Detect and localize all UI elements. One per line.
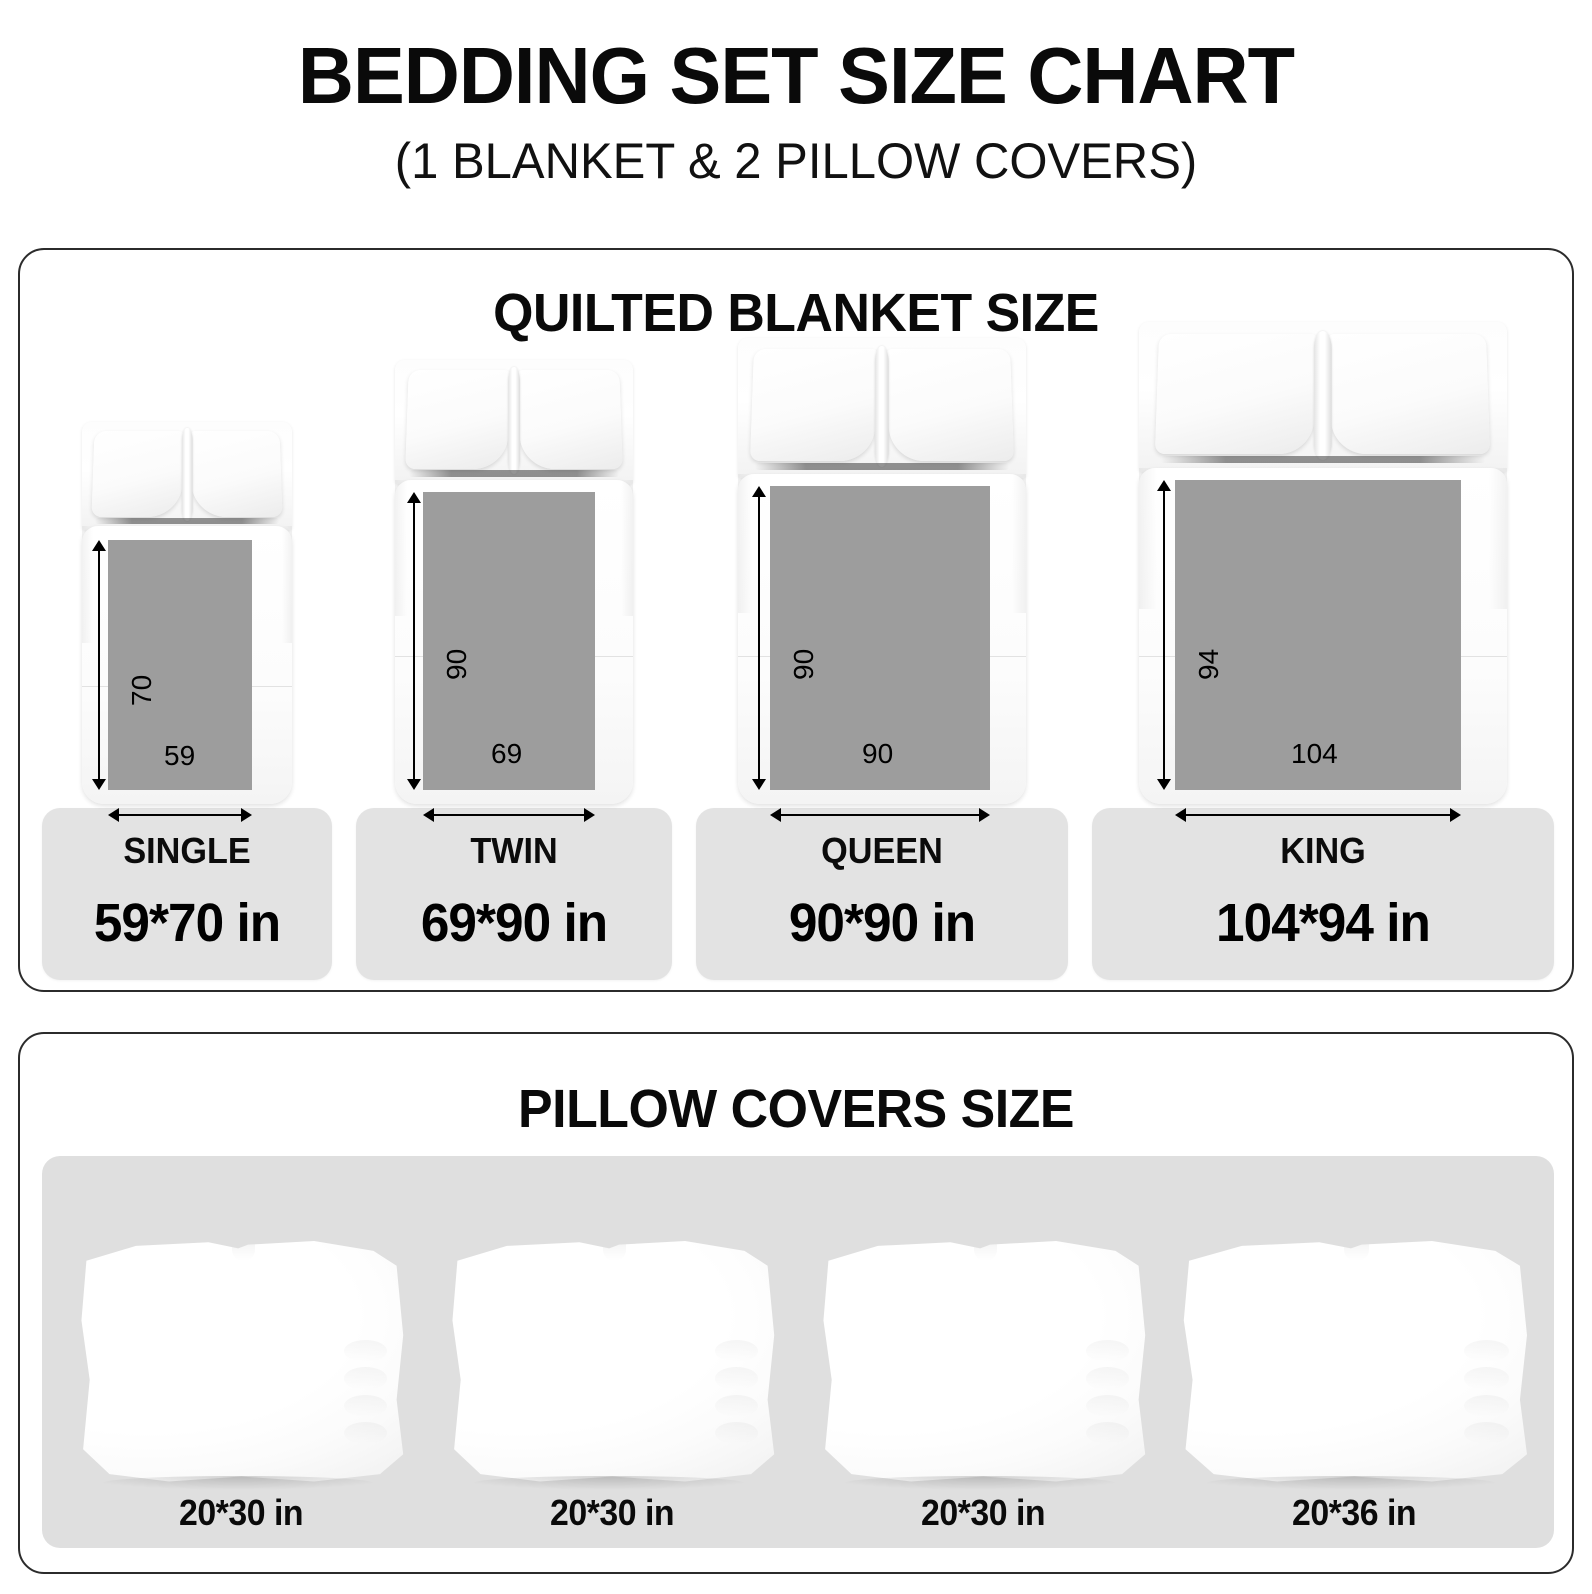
pillow-crease [344, 1340, 387, 1362]
pillow-column-2: 20*30 in [432, 1236, 794, 1534]
pillow-shadow [1207, 1476, 1496, 1490]
pillow-cover-icon [1179, 1236, 1531, 1484]
pillow-covers-section: PILLOW COVERS SIZE 20*30 in [18, 1032, 1574, 1574]
arrow-head-up [752, 486, 766, 497]
bed-side-right [1489, 468, 1507, 609]
pillow-fold-icon [875, 346, 889, 466]
pillow-notch [603, 1238, 626, 1260]
arrow-head-up [1157, 480, 1171, 491]
pillow-left-icon [91, 431, 184, 517]
bed-side-left [738, 474, 752, 613]
bed-side-left [395, 480, 407, 616]
dimension-label-height-queen: 90 [788, 649, 820, 680]
pillow-notch [232, 1238, 255, 1260]
pillow-left-icon [1155, 334, 1317, 454]
dimension-arrow-vertical-single [92, 540, 106, 790]
arrow-head-down [92, 779, 106, 790]
bed-column-queen: 90 90 QUEEN 90*90 in [696, 370, 1068, 980]
bed-side-right [282, 526, 293, 643]
dimension-line [758, 493, 760, 783]
pillow-shadow [95, 518, 280, 523]
pillow-crease [1464, 1367, 1510, 1389]
dimension-line [413, 499, 415, 783]
pillow-dim-1: 20*30 in [179, 1492, 303, 1534]
pillow-crease [1464, 1395, 1510, 1417]
pillow-shadow [755, 463, 1008, 470]
dimension-label-width-queen: 90 [862, 738, 893, 770]
dimension-line [1163, 487, 1165, 783]
bed-figure-twin: 90 69 [356, 360, 672, 804]
size-dims-queen: 90*90 in [715, 892, 1049, 954]
arrow-head-down [407, 779, 421, 790]
bed-pillows-twin [395, 360, 633, 484]
pillow-crease [1086, 1340, 1129, 1362]
arrow-head-down [1157, 779, 1171, 790]
pillow-crease [1086, 1422, 1129, 1444]
pillow-fold-icon [182, 428, 193, 521]
bed-side-right [1012, 474, 1026, 613]
bed-body-twin: 90 69 [395, 480, 633, 804]
pillow-body [77, 1236, 407, 1484]
pillow-body [819, 1236, 1149, 1484]
pillow-dim-4: 20*36 in [1292, 1492, 1416, 1534]
dimension-label-width-king: 104 [1291, 738, 1338, 770]
bed-figure-single: 70 59 [42, 422, 332, 804]
quilted-blanket-section: QUILTED BLANKET SIZE [18, 248, 1574, 992]
size-name-queen: QUEEN [715, 830, 1049, 872]
pillow-shadow [1161, 456, 1485, 464]
bed-illustrations-row: 70 59 SINGLE 59*70 in [42, 370, 1554, 980]
pillow-fold-icon [508, 367, 520, 474]
bed-figure-queen: 90 90 [696, 338, 1068, 804]
pillow-left-icon [750, 349, 878, 461]
bed-column-king: 94 104 KING 104*94 in [1092, 370, 1554, 980]
pillow-dim-3: 20*30 in [921, 1492, 1045, 1534]
pillow-dim-2: 20*30 in [550, 1492, 674, 1534]
pillow-crease [1086, 1367, 1129, 1389]
pillow-shadow [845, 1476, 1116, 1490]
bed-body-queen: 90 90 [738, 474, 1026, 804]
bed-figure-king: 94 104 [1092, 322, 1554, 804]
size-dims-twin: 69*90 in [373, 892, 654, 954]
pillow-crease [344, 1367, 387, 1389]
size-card-queen[interactable]: QUEEN 90*90 in [696, 808, 1068, 980]
pillow-crease [715, 1367, 758, 1389]
pillow-crease [1464, 1422, 1510, 1444]
pillow-column-3: 20*30 in [803, 1236, 1165, 1534]
pillow-right-icon [190, 431, 283, 517]
pillow-cover-icon [819, 1236, 1149, 1484]
size-dims-king: 104*94 in [1113, 892, 1533, 954]
dimension-label-width-single: 59 [164, 740, 195, 772]
bed-body-single: 70 59 [82, 526, 292, 804]
arrow-head-down [752, 779, 766, 790]
bed-pillows-single [82, 422, 292, 530]
pillow-shadow [474, 1476, 745, 1490]
pillow-right-icon [886, 349, 1014, 461]
pillow-illustrations-row: 20*30 in 20*30 in [42, 1156, 1554, 1548]
pillow-notch [974, 1238, 997, 1260]
dimension-arrow-vertical-twin [407, 492, 421, 790]
pillow-fold-icon [1314, 331, 1332, 460]
bed-column-twin: 90 69 TWIN 69*90 in [356, 370, 672, 980]
dimension-arrow-vertical-king [1157, 480, 1171, 790]
pillow-body [448, 1236, 778, 1484]
dimension-arrow-vertical-queen [752, 486, 766, 790]
size-name-king: KING [1113, 830, 1533, 872]
dimension-label-height-twin: 90 [441, 649, 473, 680]
size-dims-single: 59*70 in [59, 892, 316, 954]
bed-body-king: 94 104 [1139, 468, 1507, 804]
pillow-crease [715, 1422, 758, 1444]
pillow-crease [344, 1422, 387, 1444]
pillow-left-icon [405, 370, 511, 469]
arrow-head-up [92, 540, 106, 551]
page-subtitle: (1 BLANKET & 2 PILLOW COVERS) [16, 132, 1576, 190]
pillow-crease [344, 1395, 387, 1417]
pillow-shadow [409, 470, 618, 476]
pillow-right-icon [1328, 334, 1490, 454]
size-card-twin[interactable]: TWIN 69*90 in [356, 808, 672, 980]
page-title: BEDDING SET SIZE CHART [24, 34, 1568, 118]
size-chart-page: BEDDING SET SIZE CHART (1 BLANKET & 2 PI… [0, 0, 1592, 1594]
pillow-cover-icon [77, 1236, 407, 1484]
pillow-cover-icon [448, 1236, 778, 1484]
pillow-right-icon [517, 370, 623, 469]
dimension-line [98, 547, 100, 783]
bed-side-right [621, 480, 633, 616]
pillow-column-4: 20*36 in [1174, 1236, 1536, 1534]
bed-side-left [1139, 468, 1157, 609]
pillow-crease [715, 1340, 758, 1362]
arrow-head-up [407, 492, 421, 503]
pillow-crease [1086, 1395, 1129, 1417]
pillow-covers-title: PILLOW COVERS SIZE [51, 1078, 1541, 1140]
dimension-label-height-single: 70 [126, 675, 158, 706]
dimension-label-width-twin: 69 [491, 738, 522, 770]
size-card-single[interactable]: SINGLE 59*70 in [42, 808, 332, 980]
pillow-notch [1344, 1238, 1369, 1260]
bed-pillows-queen [738, 338, 1026, 478]
size-name-single: SINGLE [59, 830, 316, 872]
bed-column-single: 70 59 SINGLE 59*70 in [42, 370, 332, 980]
size-name-twin: TWIN [373, 830, 654, 872]
bed-pillows-king [1139, 322, 1507, 472]
pillow-crease [715, 1395, 758, 1417]
pillow-column-1: 20*30 in [61, 1236, 423, 1534]
pillow-crease [1464, 1340, 1510, 1362]
bed-side-left [82, 526, 93, 643]
page-header: BEDDING SET SIZE CHART (1 BLANKET & 2 PI… [0, 34, 1592, 190]
dimension-label-height-king: 94 [1193, 649, 1225, 680]
pillow-shadow [103, 1476, 374, 1490]
size-card-king[interactable]: KING 104*94 in [1092, 808, 1554, 980]
pillow-body [1179, 1236, 1531, 1484]
